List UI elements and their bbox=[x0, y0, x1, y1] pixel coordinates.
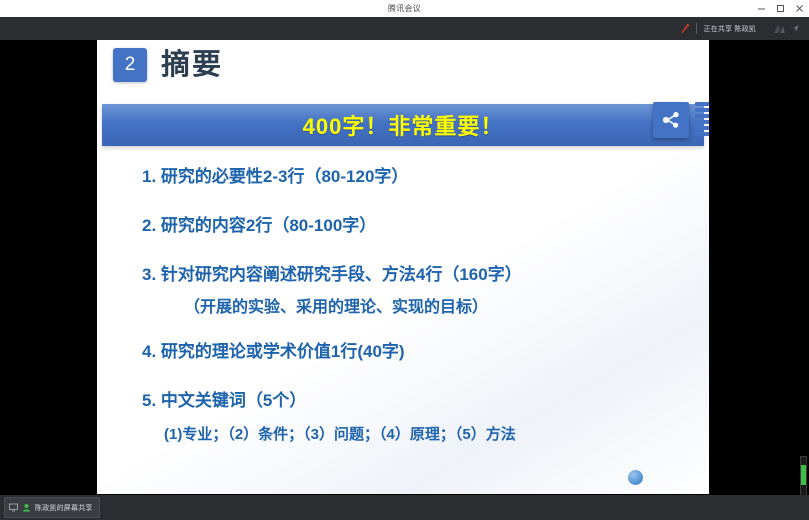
collapse-arrow-icon[interactable] bbox=[772, 23, 788, 35]
tencent-meeting-window: 腾讯会议 正在共享 陈政凯 bbox=[0, 0, 809, 520]
participant-avatar-dot bbox=[628, 470, 643, 485]
toolbar-right-group: 正在共享 陈政凯 bbox=[680, 17, 801, 40]
highlight-banner: 400字！非常重要！ bbox=[102, 104, 704, 146]
slide-number-badge: 2 bbox=[113, 48, 147, 82]
keywords-line: (1)专业；（2）条件；（3）问题；（4）原理；（5）方法 bbox=[164, 423, 702, 444]
window-title: 腾讯会议 bbox=[388, 3, 421, 14]
slide-title: 摘要 bbox=[161, 51, 223, 80]
person-icon bbox=[22, 503, 31, 512]
window-controls bbox=[752, 0, 809, 17]
taskbar: 陈政凯的屏幕共享 bbox=[0, 495, 809, 520]
close-button[interactable] bbox=[790, 0, 809, 17]
monitor-icon bbox=[9, 503, 18, 512]
toolbar-nav-icons bbox=[772, 23, 801, 35]
minimize-button[interactable] bbox=[752, 0, 771, 17]
list-item: 2. 研究的内容2行（80-100字） bbox=[142, 211, 702, 236]
toolbar-divider bbox=[696, 23, 697, 34]
list-item: 3. 针对研究内容阐述研究手段、方法4行（160字） bbox=[142, 260, 702, 285]
list-item: 1. 研究的必要性2-3行（80-120字） bbox=[142, 162, 702, 187]
taskbar-item-label: 陈政凯的屏幕共享 bbox=[35, 503, 93, 513]
maximize-button[interactable] bbox=[771, 0, 790, 17]
taskbar-item-screen-share[interactable]: 陈政凯的屏幕共享 bbox=[4, 497, 100, 518]
meeting-toolbar: 正在共享 陈政凯 bbox=[0, 17, 809, 40]
share-nodes-icon bbox=[653, 102, 689, 138]
list-item: 5. 中文关键词（5个） bbox=[142, 386, 702, 411]
title-bar: 腾讯会议 bbox=[0, 0, 809, 18]
decorative-bars bbox=[695, 102, 709, 136]
slide-body-list: 1. 研究的必要性2-3行（80-120字） 2. 研究的内容2行（80-100… bbox=[142, 162, 702, 444]
network-level-indicator bbox=[800, 456, 807, 496]
slide-heading: 2 摘要 bbox=[113, 48, 223, 82]
sharing-status-label: 正在共享 陈政凯 bbox=[703, 24, 756, 34]
presentation-slide: 2 摘要 400字！非常重要！ bbox=[97, 40, 709, 494]
cursor-arrow-icon[interactable] bbox=[790, 23, 801, 34]
banner-text: 400字！非常重要！ bbox=[303, 109, 504, 141]
shared-screen-stage: 2 摘要 400字！非常重要！ bbox=[0, 40, 809, 495]
recording-pen-icon[interactable] bbox=[680, 23, 690, 35]
list-sub-item: （开展的实验、采用的理论、实现的目标） bbox=[184, 293, 702, 317]
list-item: 4. 研究的理论或学术价值1行(40字) bbox=[142, 337, 702, 362]
